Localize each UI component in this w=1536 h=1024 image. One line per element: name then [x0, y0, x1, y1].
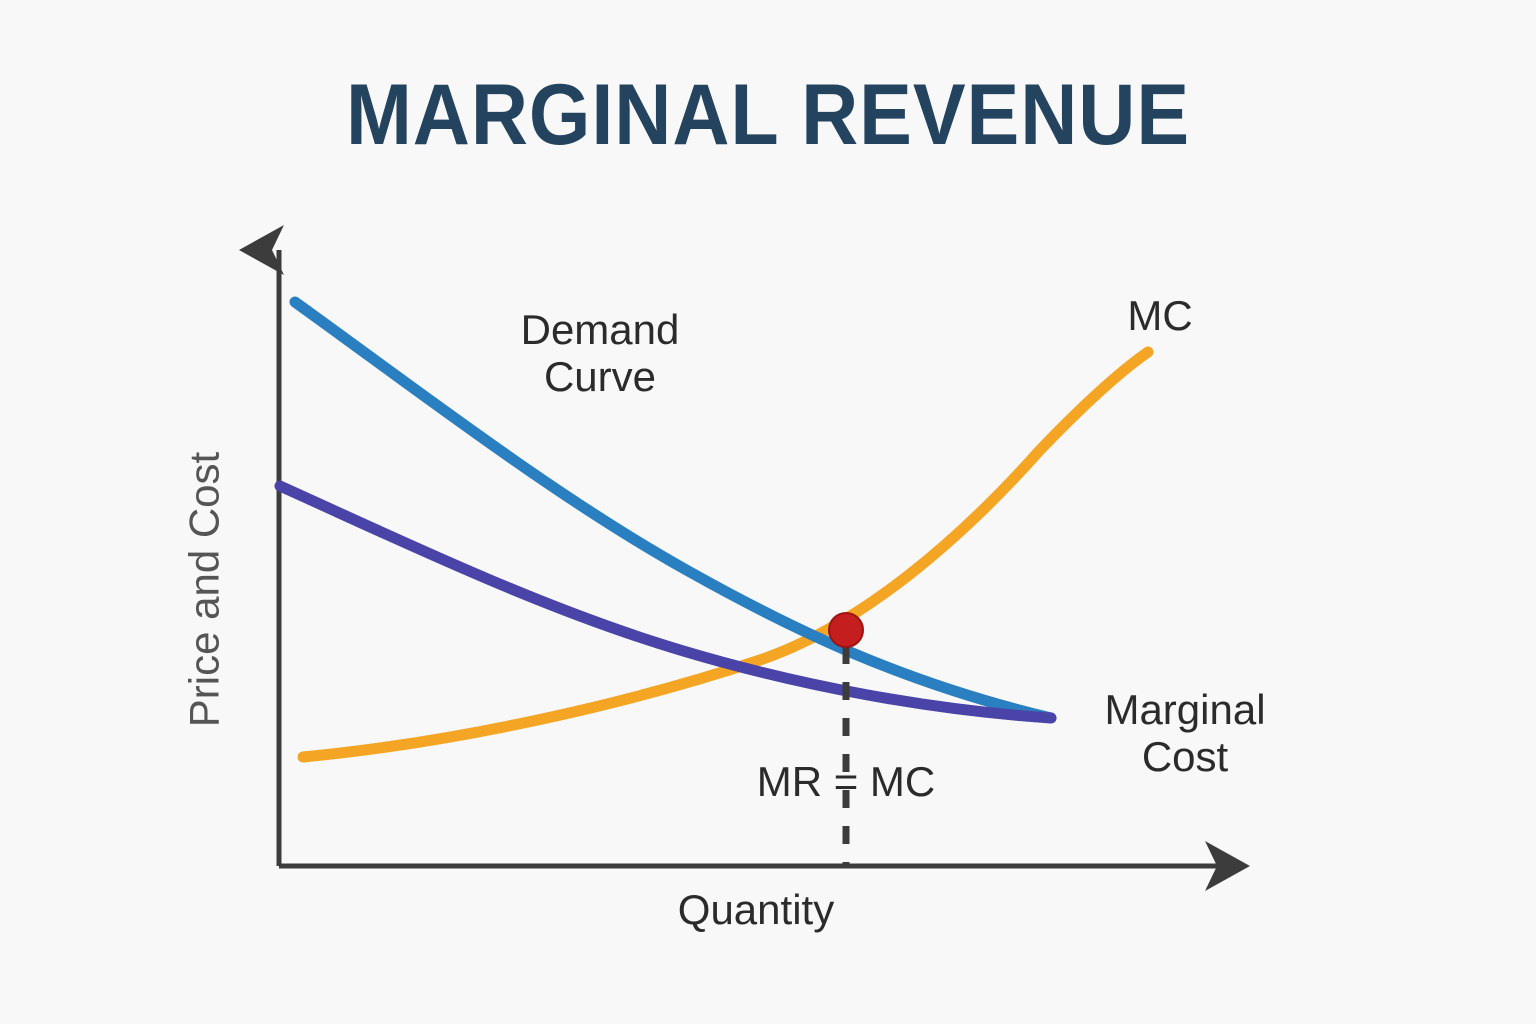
chart-canvas: MARGINAL REVENUE Demand Curve MC Margina…	[0, 0, 1536, 1024]
annotation-mc: MC	[1080, 292, 1240, 339]
annotation-equilibrium: MR = MC	[706, 758, 986, 805]
economics-plot	[0, 0, 1536, 1024]
y-axis-label: Price and Cost	[180, 380, 227, 800]
annotation-marginal-cost: Marginal Cost	[1040, 686, 1330, 780]
equilibrium-point-marker[interactable]	[829, 613, 863, 647]
x-axis-label: Quantity	[586, 886, 926, 933]
annotation-demand-curve: Demand Curve	[460, 306, 740, 400]
